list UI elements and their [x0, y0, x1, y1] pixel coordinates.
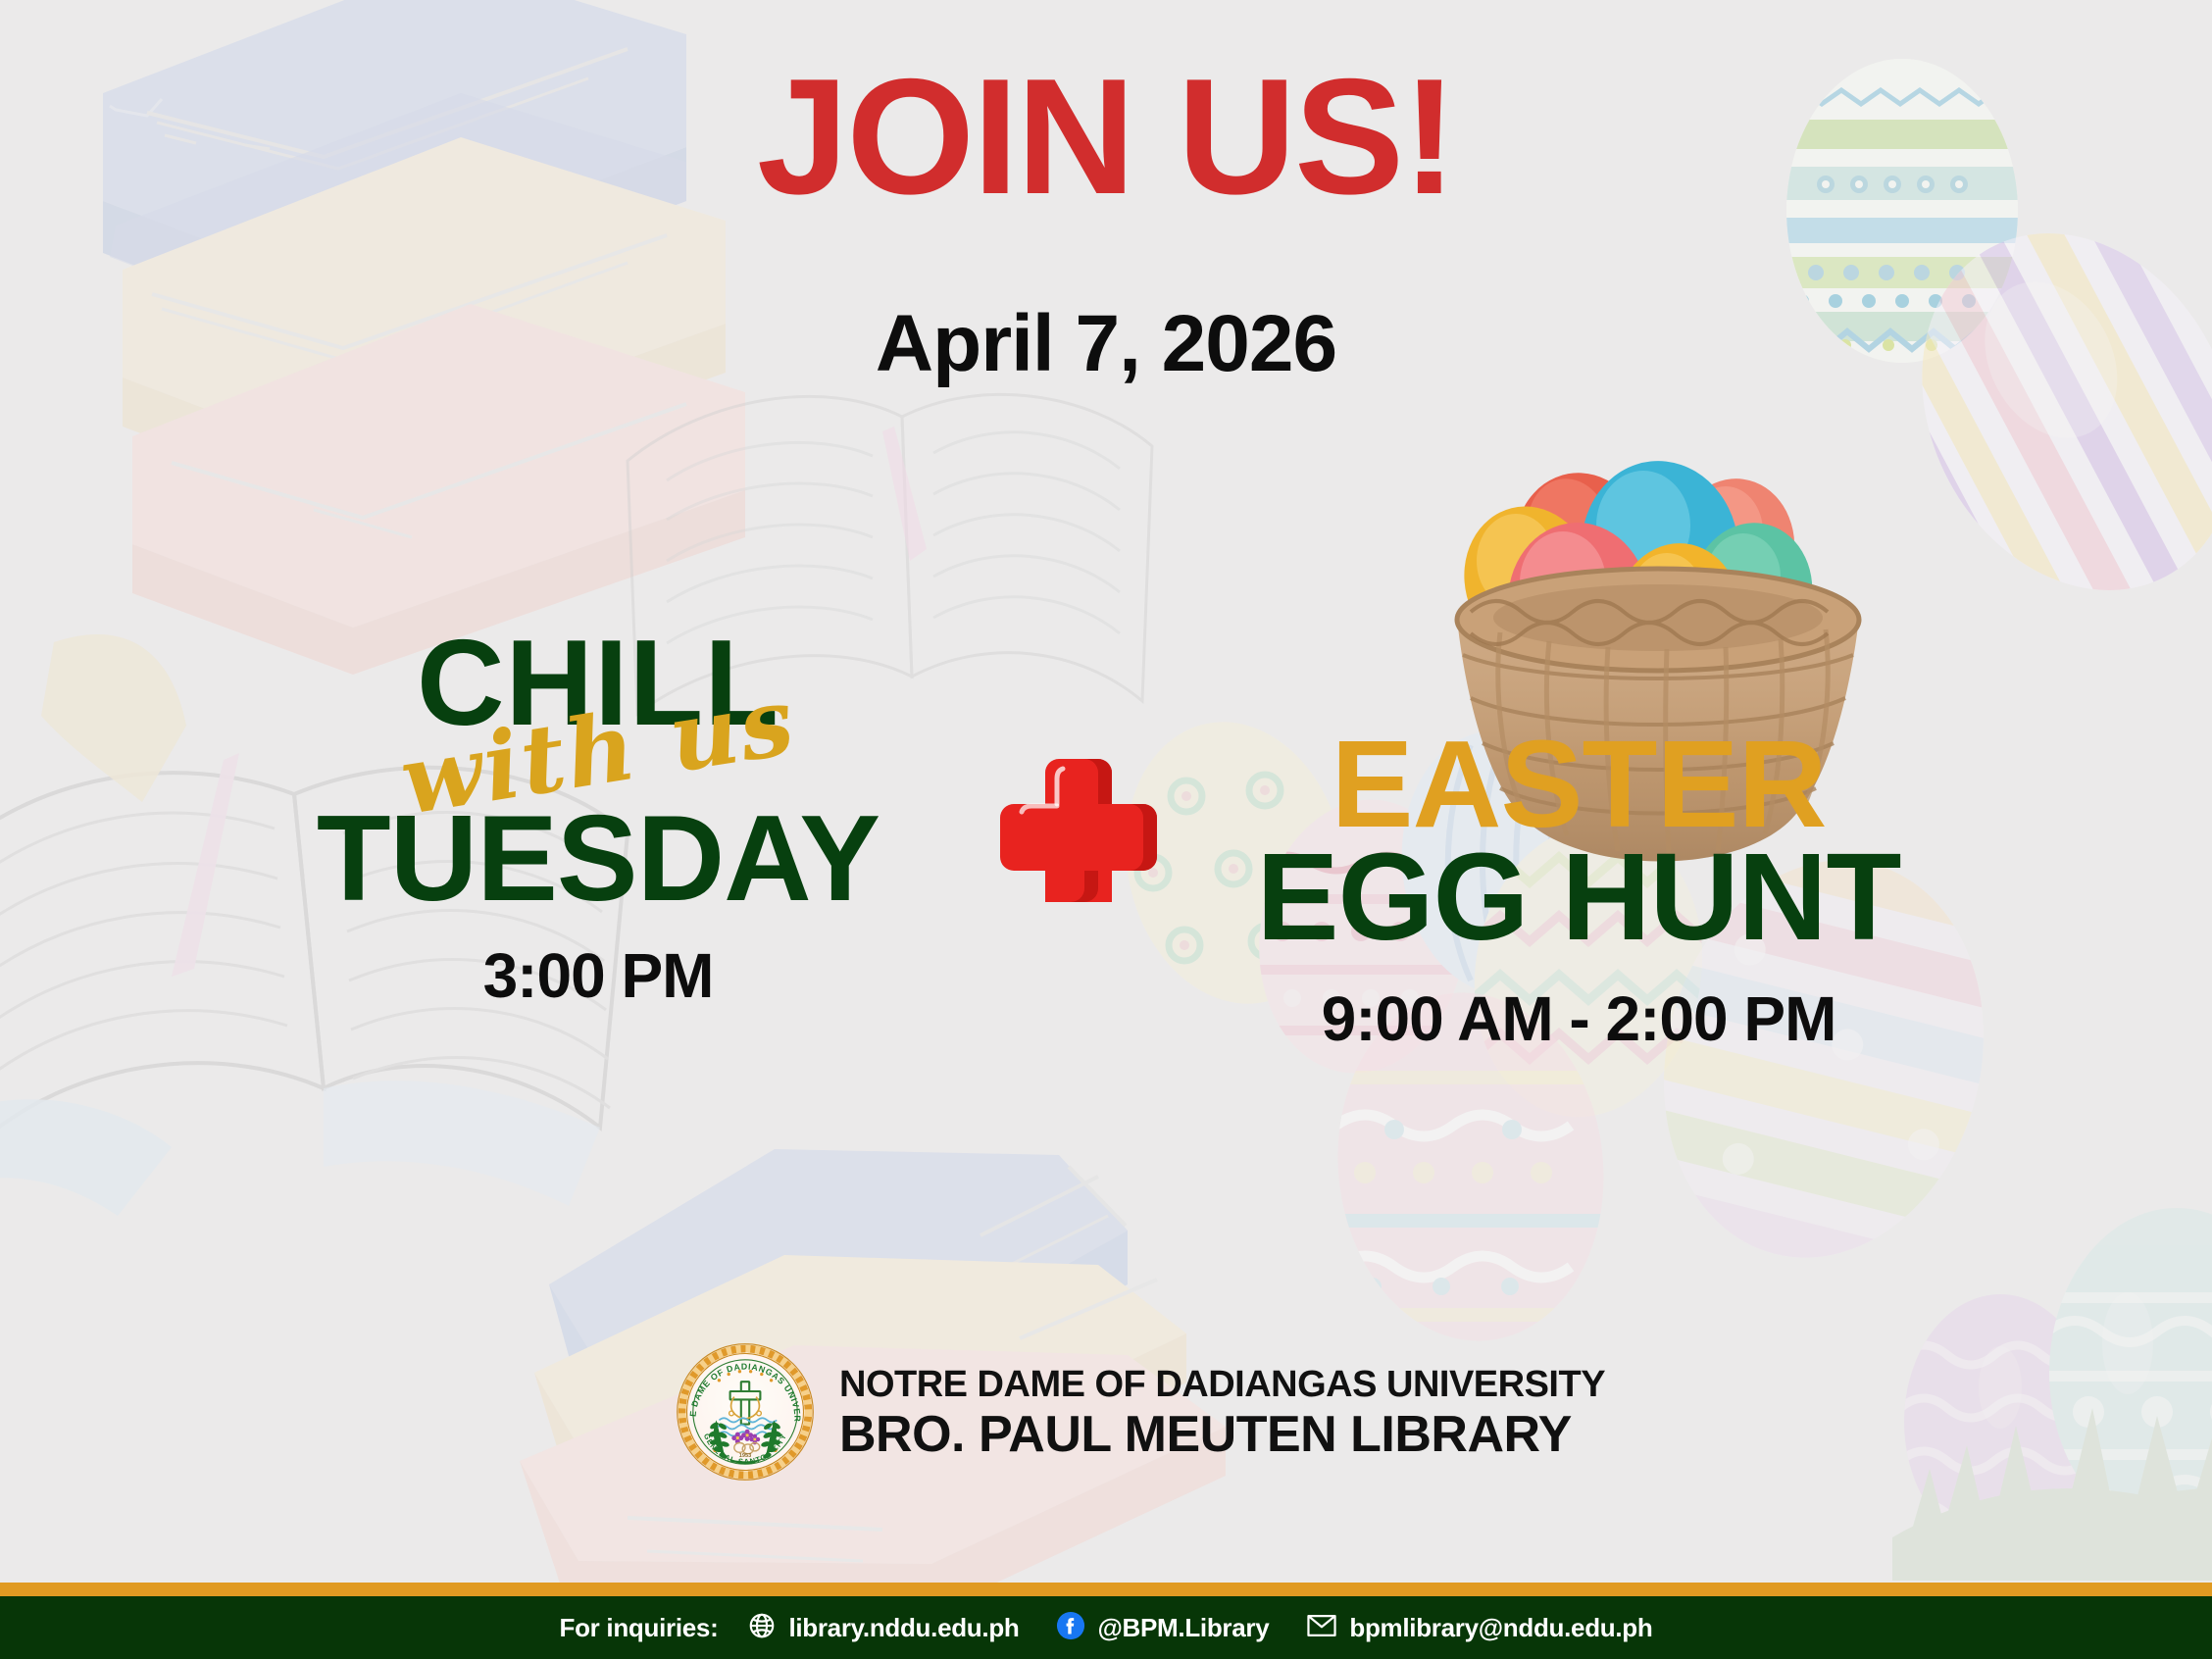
facebook-icon	[1056, 1611, 1085, 1645]
footer-website[interactable]: library.nddu.edu.ph	[747, 1611, 1019, 1645]
egg-hunt-label: EGG HUNT	[1226, 838, 1932, 957]
facebook-text: @BPM.Library	[1097, 1613, 1269, 1643]
branding-text: NOTRE DAME OF DADIANGAS UNIVERSITY BRO. …	[839, 1364, 1605, 1465]
page-title: JOIN US!	[0, 54, 2212, 219]
university-seal: NOTRE DAME OF DADIANGAS UNIVERSITY GENER…	[677, 1343, 814, 1485]
website-text: library.nddu.edu.ph	[788, 1613, 1019, 1643]
branding: NOTRE DAME OF DADIANGAS UNIVERSITY GENER…	[677, 1343, 1605, 1485]
organization-name: NOTRE DAME OF DADIANGAS UNIVERSITY	[839, 1364, 1605, 1407]
tuesday-label: TUESDAY	[265, 802, 931, 918]
seal-year: 1953	[739, 1453, 751, 1459]
event-date: April 7, 2026	[0, 304, 2212, 384]
poster-canvas: JOIN US! April 7, 2026 CHILL with us TUE…	[0, 0, 2212, 1659]
globe-icon	[747, 1611, 777, 1645]
event-block-easter-egg-hunt: EASTER EGG HUNT 9:00 AM - 2:00 PM	[1226, 726, 1932, 1055]
chill-heading: CHILL with us	[265, 628, 931, 739]
for-inquiries-label: For inquiries:	[560, 1613, 719, 1643]
footer-bar: For inquiries: library.nddu.edu.ph	[0, 1596, 2212, 1659]
library-name: BRO. PAUL MEUTEN LIBRARY	[839, 1406, 1605, 1465]
footer-gold-stripe	[0, 1583, 2212, 1596]
footer-facebook[interactable]: @BPM.Library	[1056, 1611, 1269, 1645]
email-text: bpmlibrary@nddu.edu.ph	[1349, 1613, 1652, 1643]
easter-egg-hunt-time: 9:00 AM - 2:00 PM	[1226, 982, 1932, 1055]
chill-label: CHILL	[417, 616, 779, 751]
footer-email[interactable]: bpmlibrary@nddu.edu.ph	[1306, 1611, 1652, 1645]
event-block-chill-tuesday: CHILL with us TUESDAY 3:00 PM	[265, 628, 931, 1012]
chill-tuesday-time: 3:00 PM	[265, 939, 931, 1012]
envelope-icon	[1306, 1611, 1337, 1645]
easter-label: EASTER	[1226, 726, 1932, 844]
plus-sign-icon	[1000, 745, 1157, 902]
poster-content: JOIN US! April 7, 2026 CHILL with us TUE…	[0, 0, 2212, 1659]
